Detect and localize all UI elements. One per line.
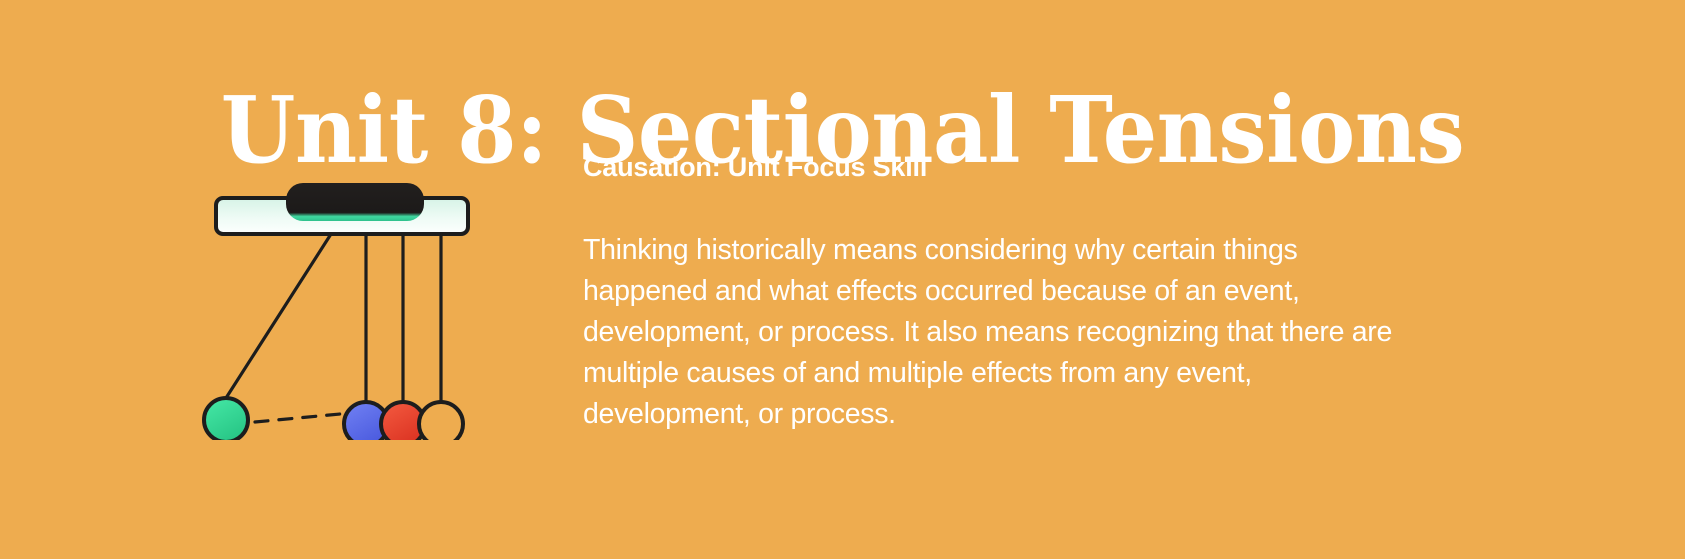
text-column: Causation: Unit Focus Skill Thinking his… [583,148,1413,435]
cradle-strings [226,234,441,402]
body-paragraph: Thinking historically means considering … [583,230,1413,435]
motion-dash-trajectory [255,414,340,422]
cradle-balls [204,398,463,440]
ball-green [204,398,248,440]
newtons-cradle-illustration [185,170,485,440]
unit-focus-skill-heading: Causation: Unit Focus Skill [583,148,1413,186]
ball-outline [419,402,463,440]
slide-canvas: Unit 8: Sectional Tensions [0,0,1685,559]
cradle-top-block [286,183,424,221]
newtons-cradle-svg [185,170,485,440]
